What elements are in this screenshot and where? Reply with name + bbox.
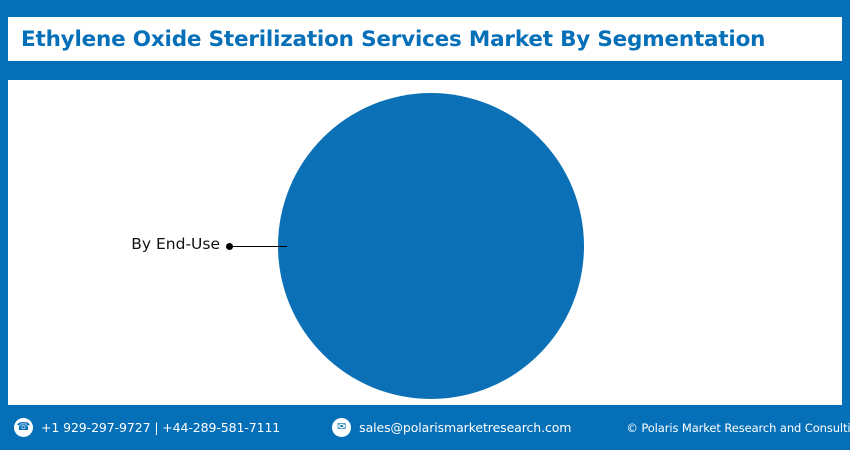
infographic-page: Ethylene Oxide Sterilization Services Ma…	[0, 0, 850, 450]
envelope-icon: ✉	[332, 418, 351, 437]
footer-copyright-text: © Polaris Market Research and Consulting…	[626, 421, 850, 435]
pie-slice-label: By End-Use	[8, 235, 220, 253]
footer-bar: ☎ +1 929-297-9727 | +44-289-581-7111 ✉ s…	[0, 405, 850, 450]
footer-email[interactable]: ✉ sales@polarismarketresearch.com	[332, 418, 571, 437]
footer-phone[interactable]: ☎ +1 929-297-9727 | +44-289-581-7111	[14, 418, 280, 437]
label-leader-dot	[226, 243, 233, 250]
footer-phone-text: +1 929-297-9727 | +44-289-581-7111	[41, 420, 280, 435]
page-title: Ethylene Oxide Sterilization Services Ma…	[8, 27, 765, 52]
label-leader-line	[229, 246, 287, 247]
chart-area: By End-Use	[8, 80, 842, 405]
pie-slice-by-end-use[interactable]	[278, 93, 584, 399]
footer-copyright: © Polaris Market Research and Consulting…	[626, 421, 850, 435]
phone-icon: ☎	[14, 418, 33, 437]
title-bar: Ethylene Oxide Sterilization Services Ma…	[8, 17, 842, 61]
pie-chart: By End-Use	[8, 80, 842, 405]
footer-email-text: sales@polarismarketresearch.com	[359, 420, 571, 435]
